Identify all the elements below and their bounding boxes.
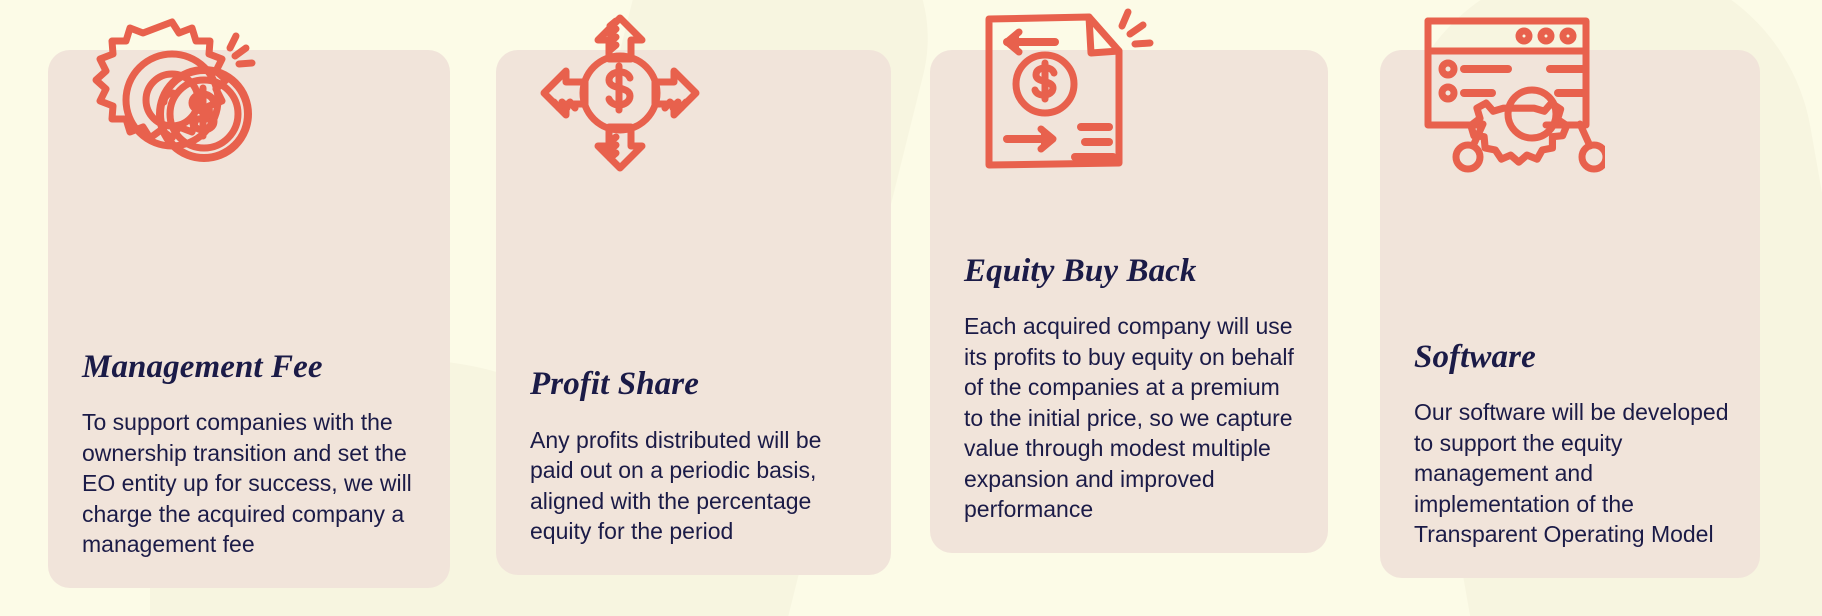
card-profit-share[interactable]: Profit Share Any profits distributed wil… xyxy=(496,50,891,575)
slide-canvas: Management Fee To support companies with… xyxy=(0,0,1822,616)
card-description: Our software will be developed to suppor… xyxy=(1414,397,1734,550)
card-group: Management Fee To support companies with… xyxy=(0,0,1822,616)
card-description: Any profits distributed will be paid out… xyxy=(530,425,865,547)
card-body: Software Our software will be developed … xyxy=(1414,339,1734,550)
card-body: Management Fee To support companies with… xyxy=(82,349,424,560)
card-management-fee[interactable]: Management Fee To support companies with… xyxy=(48,50,450,588)
card-title: Software xyxy=(1414,339,1734,375)
card-software[interactable]: Software Our software will be developed … xyxy=(1380,50,1760,578)
card-title: Profit Share xyxy=(530,366,865,402)
card-description: To support companies with the ownership … xyxy=(82,407,424,560)
card-description: Each acquired company will use its profi… xyxy=(964,311,1302,525)
card-body: Profit Share Any profits distributed wil… xyxy=(530,366,865,547)
card-title: Management Fee xyxy=(82,349,424,385)
card-equity-buy-back[interactable]: Equity Buy Back Each acquired company wi… xyxy=(930,50,1328,553)
card-body: Equity Buy Back Each acquired company wi… xyxy=(964,253,1302,525)
card-title: Equity Buy Back xyxy=(964,253,1302,289)
